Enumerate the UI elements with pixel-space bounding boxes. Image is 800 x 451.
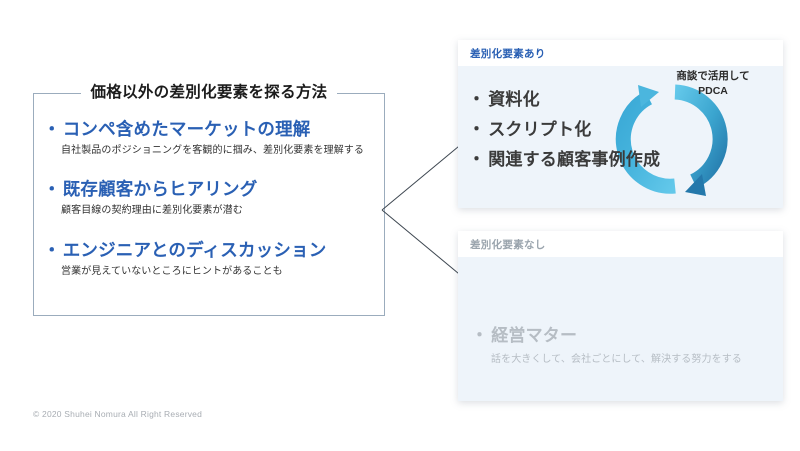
footer-copyright: © 2020 Shuhei Nomura All Right Reserved	[33, 409, 202, 419]
bullet-marker-icon: ・	[43, 179, 61, 199]
panel-without-differentiation: 差別化要素なし ・経営マター 話を大きくして、会社ごとにして、解決する努力をする	[458, 231, 783, 401]
pdca-arc-right	[675, 92, 720, 181]
method-bullet-subtext-2: 顧客目線の契約理由に差別化要素が潜む	[61, 204, 371, 218]
panel-top-header-label: 差別化要素あり	[470, 46, 546, 61]
panel-top-list: ・資料化 ・スクリプト化 ・関連する顧客事例作成	[468, 85, 660, 175]
method-bullet-heading-text-3: エンジニアとのディスカッション	[63, 240, 327, 260]
bullet-marker-icon: ・	[43, 119, 61, 139]
method-bullet-subtext-1: 自社製品のポジショニングを客観的に掴み、差別化要素を理解する	[61, 144, 371, 158]
method-bullet-item-1: ・コンペ含めたマーケットの理解 自社製品のポジショニングを客観的に掴み、差別化要…	[43, 118, 371, 158]
panel-bottom-list-item-1: ・経営マター	[471, 321, 742, 351]
slide-canvas: 価格以外の差別化要素を探る方法 ・コンペ含めたマーケットの理解 自社製品のポジシ…	[0, 0, 800, 451]
method-bullet-heading-1: ・コンペ含めたマーケットの理解	[43, 118, 371, 140]
panel-bottom-body: ・経営マター 話を大きくして、会社ごとにして、解決する努力をする	[458, 257, 783, 401]
panel-top-list-item-text-3: 関連する顧客事例作成	[488, 150, 660, 169]
panel-top-body: 商談で活用して PDCA	[458, 66, 783, 208]
panel-top-header: 差別化要素あり	[458, 40, 783, 66]
panel-top-list-item-1: ・資料化	[468, 85, 660, 115]
bullet-marker-icon: ・	[43, 240, 61, 260]
bullet-marker-icon: ・	[468, 90, 485, 109]
method-bullet-heading-text-1: コンペ含めたマーケットの理解	[63, 119, 311, 139]
method-bullet-list: ・コンペ含めたマーケットの理解 自社製品のポジショニングを客観的に掴み、差別化要…	[33, 93, 385, 316]
panel-top-list-item-3: ・関連する顧客事例作成	[468, 145, 660, 175]
method-bullet-item-2: ・既存顧客からヒアリング 顧客目線の契約理由に差別化要素が潜む	[43, 178, 371, 218]
bullet-marker-icon: ・	[471, 326, 488, 345]
method-bullet-heading-2: ・既存顧客からヒアリング	[43, 178, 371, 200]
bullet-marker-icon: ・	[468, 120, 485, 139]
panel-bottom-list: ・経営マター 話を大きくして、会社ごとにして、解決する努力をする	[471, 321, 742, 367]
pdca-caption: 商談で活用して PDCA	[653, 69, 773, 99]
method-bullet-subtext-3: 営業が見えていないところにヒントがあることも	[61, 265, 371, 279]
pdca-caption-line2: PDCA	[653, 84, 773, 99]
panel-top-list-item-text-1: 資料化	[488, 90, 540, 109]
bullet-marker-icon: ・	[468, 150, 485, 169]
panel-bottom-header: 差別化要素なし	[458, 231, 783, 257]
method-bullet-heading-text-2: 既存顧客からヒアリング	[63, 179, 258, 199]
panel-top-list-item-2: ・スクリプト化	[468, 115, 660, 145]
panel-top-list-item-text-2: スクリプト化	[488, 120, 591, 139]
panel-bottom-list-item-text-1: 経営マター	[491, 326, 577, 345]
method-bullet-heading-3: ・エンジニアとのディスカッション	[43, 239, 371, 261]
method-bullet-item-3: ・エンジニアとのディスカッション 営業が見えていないところにヒントがあることも	[43, 239, 371, 279]
pdca-caption-line1: 商談で活用して	[653, 69, 773, 84]
panel-bottom-header-label: 差別化要素なし	[470, 237, 546, 252]
panel-bottom-list-subtext-1: 話を大きくして、会社ごとにして、解決する努力をする	[491, 353, 742, 367]
panel-with-differentiation: 差別化要素あり 商談で活用して PDCA	[458, 40, 783, 208]
